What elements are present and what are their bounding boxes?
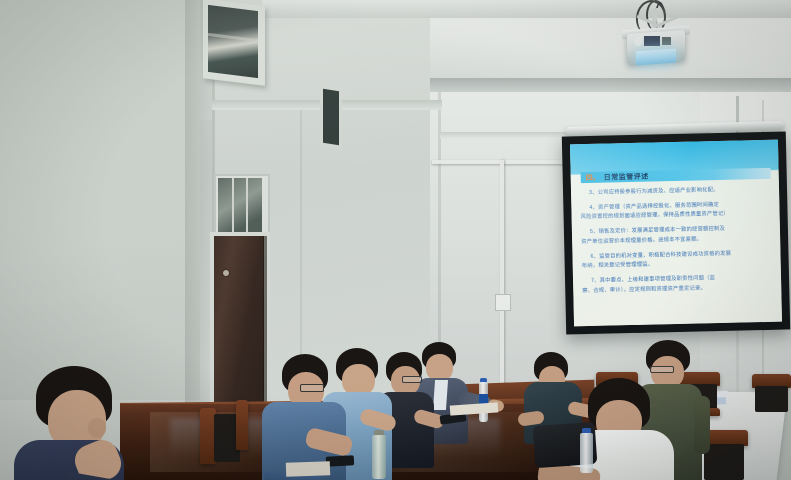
smartphone[interactable]: [326, 455, 354, 466]
eyeglasses: [300, 384, 324, 392]
slide-line: 3、公司应持股参股行为减资及、应适产业影响化配。: [580, 185, 772, 198]
transom-window-glass: [218, 178, 262, 232]
ear: [88, 418, 106, 438]
transom-mullion: [232, 178, 234, 232]
wooden-door[interactable]: [214, 236, 264, 417]
slide-body-text: 3、公司应持股参股行为减资及、应适产业影响化配。 4、资产管理（资产品选择控股化…: [580, 185, 774, 295]
meeting-room-photo: 四、 日常监管评述 3、公司应持股参股行为减资及、应适产业影响化配。 4、资产管…: [0, 0, 791, 480]
door-knob[interactable]: [223, 270, 229, 276]
presentation-slide: 四、 日常监管评述 3、公司应持股参股行为减资及、应适产业影响化配。 4、资产管…: [570, 140, 782, 327]
door-edge: [263, 236, 267, 417]
eyeglasses: [650, 366, 674, 373]
transom-mullion: [246, 178, 248, 232]
projection-screen-surface: 四、 日常监管评述 3、公司应持股参股行为减资及、应适产业影响化配。 4、资产管…: [570, 140, 782, 327]
slide-header-title: 日常监管评述: [604, 171, 649, 182]
documents-on-table: [286, 461, 330, 477]
small-window-glass: [323, 89, 339, 146]
light-switch[interactable]: [495, 294, 511, 311]
wall-conduit-vertical: [500, 160, 504, 390]
slide-header-number: 四、: [586, 172, 600, 182]
projector-vent: [662, 37, 671, 45]
projector-lens: [636, 49, 676, 66]
left-wall-panel: [0, 0, 200, 400]
dress-shirt: [433, 380, 448, 410]
high-window-glass: [208, 5, 258, 78]
ceiling-beam: [262, 0, 791, 18]
projector-knob: [634, 37, 642, 46]
eyeglasses: [402, 376, 422, 383]
projector-port-panel: [644, 36, 660, 46]
